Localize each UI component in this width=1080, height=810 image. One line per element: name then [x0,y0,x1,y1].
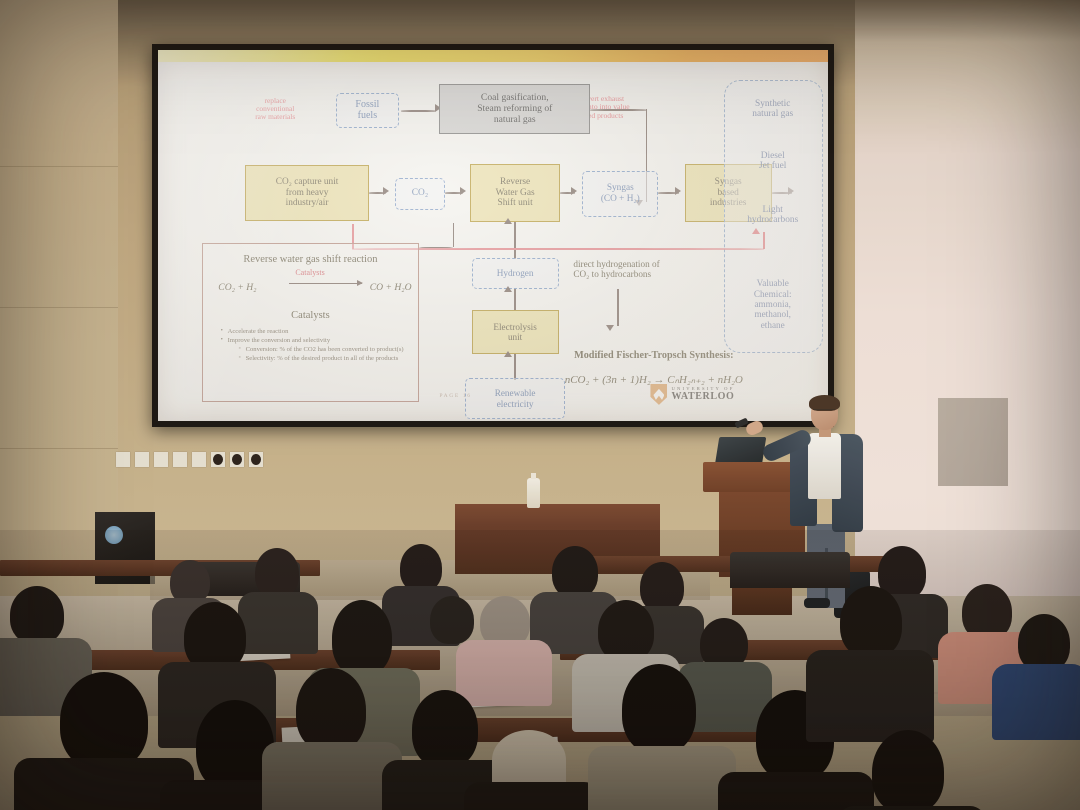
product-label: Synthetic natural gas [724,99,821,120]
sub-bullet-text: Selectivity: % of the desired product in… [246,355,399,362]
annotation-replace-raw-materials: replace conventional raw materials [215,89,336,130]
audience-head [492,730,566,790]
audience-head [640,562,684,612]
node-label: Reverse Water Gas Shift unit [471,177,559,209]
arrow-head [504,286,512,292]
audience-head [255,548,299,598]
connector [590,109,647,111]
lecture-hall-photo: replace conventional raw materials conve… [0,0,1080,810]
node-label: CO₂ [396,188,445,199]
node-fossil-fuels: Fossil fuels [336,93,400,128]
sub-bullet-item: Conversion: % of the CO2 has been conver… [239,346,413,354]
node-co2-capture-unit: CO₂ capture unit from heavy industry/air [245,165,369,221]
sub-bullet-text: Conversion: % of the CO2 has been conver… [246,346,404,353]
bullet-item: Improve the conversion and selectivity C… [221,337,413,363]
product-light-hydrocarbons: Light hydrocarbons [724,197,821,234]
node-label: Electrolysis unit [473,322,558,343]
bullet-text: Accelerate the reaction [228,328,289,335]
audience-body [838,806,986,810]
audience-head [10,586,64,644]
rwgs-reaction-arrow [289,280,363,286]
product-label: Valuable Chemical: ammonia, methanol, et… [724,278,821,329]
title-text: Reverse water gas shift reaction [202,254,420,266]
arrow-head [504,351,512,357]
node-label: Coal gasification, Steam reforming of na… [440,93,589,125]
arrow-head [752,228,760,234]
node-label: Renewable electricity [466,388,565,409]
audience-head [598,600,654,662]
arrow-head [383,187,389,195]
node-label: Hydrogen [473,268,558,278]
product-label: Light hydrocarbons [724,205,821,226]
wall-panel [938,398,1008,486]
product-valuable-chemicals: Valuable Chemical: ammonia, methanol, et… [724,265,821,343]
audience-head [872,730,944,810]
connector [514,289,516,311]
projection-screen: replace conventional raw materials conve… [158,50,828,421]
audience-head [296,668,366,752]
equation-text: CO₂ + H₂ [218,282,256,293]
audience-body [262,742,402,810]
product-synthetic-natural-gas: Synthetic natural gas [724,91,821,128]
connector [401,110,436,112]
audience-head [622,664,696,754]
arrow-label: Catalysts [295,268,324,277]
connector [453,223,455,247]
catalysts-bullets: Accelerate the reaction Improve the conv… [212,328,413,364]
audience-body [806,650,934,742]
audience-head [332,600,392,676]
audience-body [238,592,318,654]
node-co2: CO₂ [395,178,446,210]
annotation-direct-hydrogenation: direct hydrogenation of CO₂ to hydrocarb… [573,252,720,285]
node-rwgs-unit: Reverse Water Gas Shift unit [470,164,560,222]
node-hydrogen: Hydrogen [472,258,559,290]
bullet-text: Improve the conversion and selectivity [228,337,331,344]
audience-body [718,772,874,810]
equation-text: CO + H₂O [370,282,412,293]
audience-body [456,640,552,706]
glasses-icon [813,409,835,415]
audience-head [552,546,598,598]
audience-head [840,586,902,658]
rwgs-catalysts-label: Catalysts [295,268,324,277]
audience-head [400,544,442,592]
audience-head [60,672,148,770]
audience-head [412,690,478,768]
projection-screen-frame: replace conventional raw materials conve… [152,44,834,427]
audience [0,540,1080,810]
audience-head [430,596,474,644]
node-syngas: Syngas (CO + H₂) [582,171,658,217]
fischer-tropsch-title: Modified Fischer-Tropsch Synthesis: [520,345,788,367]
arrow-head [504,218,512,224]
audience-body [464,782,600,810]
slide-page-number: PAGE 16 [439,393,471,399]
subtitle-text: Catalysts [202,310,420,322]
arrow-head [460,187,466,195]
product-label: Diesel Jet fuel [724,151,821,172]
annotation-text: replace conventional raw materials [215,97,336,122]
product-diesel-jet-fuel: Diesel Jet fuel [724,143,821,180]
rwgs-equation-left: CO₂ + H₂ [218,282,256,293]
node-label: CO₂ capture unit from heavy industry/air [246,177,368,208]
connector [617,289,619,326]
rwgs-equation-right: CO + H₂O [370,282,412,293]
node-label: Syngas (CO + H₂) [583,183,657,204]
audience-body [992,664,1080,740]
title-text: Modified Fischer-Tropsch Synthesis: [520,350,788,361]
page-number-text: PAGE 16 [439,393,471,399]
waterloo-logo: UNIVERSITY OF WATERLOO [650,384,734,405]
connector [514,222,516,259]
connector-pink [763,232,765,249]
waterloo-shield-icon [650,384,667,405]
sub-bullet-item: Selectivity: % of the desired product in… [239,355,413,363]
arrow-head [571,187,577,195]
arrow-head [675,187,681,195]
wall-switch-plates [116,452,263,467]
logo-line-2: WATERLOO [671,392,734,402]
node-coal-gasification: Coal gasification, Steam reforming of na… [439,84,590,134]
node-label: Fossil fuels [337,99,399,121]
water-bottle [527,478,540,508]
bullet-item: Accelerate the reaction [221,328,413,336]
slide-content: replace conventional raw materials conve… [158,50,828,421]
catalysts-subtitle: Catalysts [202,306,420,326]
annotation-text: direct hydrogenation of CO₂ to hydrocarb… [573,259,720,280]
audience-body [588,746,736,810]
arrow-head [606,325,614,331]
